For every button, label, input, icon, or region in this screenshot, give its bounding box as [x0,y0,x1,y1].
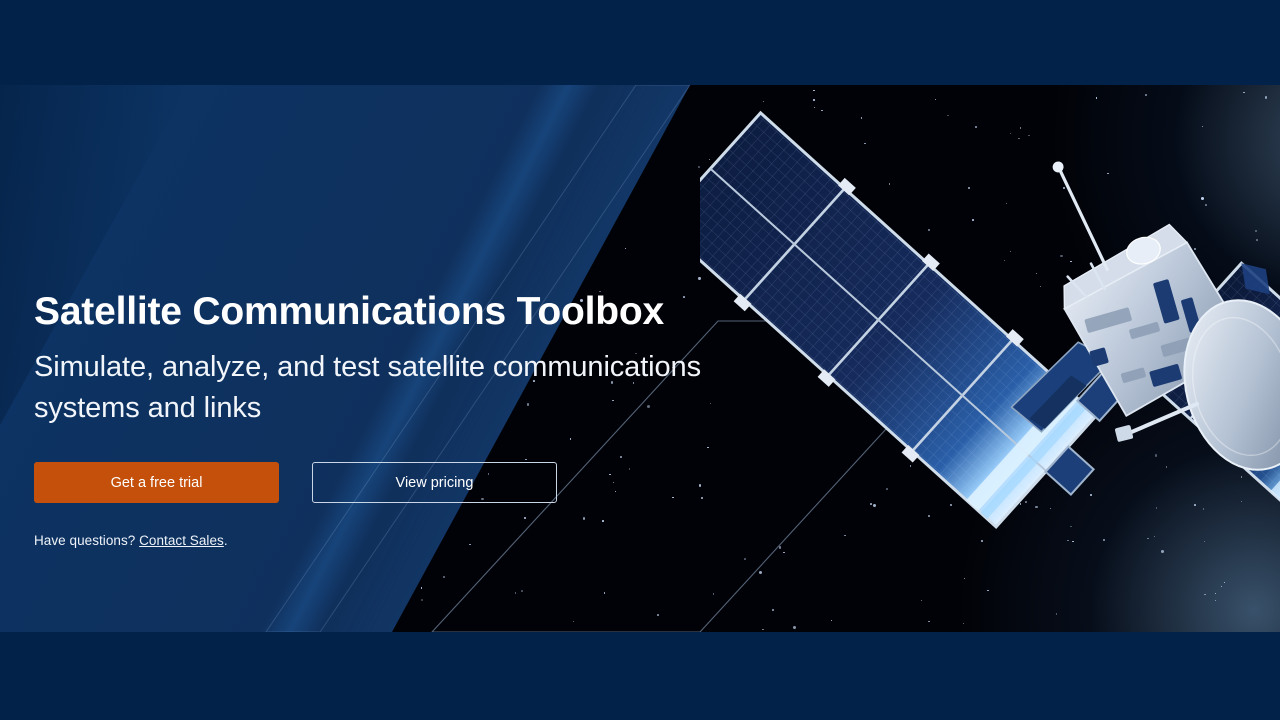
hero-banner: Satellite Communications Toolbox Simulat… [0,85,1280,632]
hero-content: Satellite Communications Toolbox Simulat… [34,290,794,548]
hero-subheadline: Simulate, analyze, and test satellite co… [34,347,794,429]
bottom-navy-strip [0,632,1280,720]
contact-sales-line: Have questions? Contact Sales. [34,533,794,548]
view-pricing-button[interactable]: View pricing [312,462,557,503]
have-questions-label: Have questions? [34,533,139,548]
contact-sales-link[interactable]: Contact Sales [139,533,224,548]
contact-sales-period: . [224,533,228,548]
page-title: Satellite Communications Toolbox [34,290,794,334]
top-navy-strip [0,0,1280,85]
get-free-trial-button[interactable]: Get a free trial [34,462,279,503]
page-root: Satellite Communications Toolbox Simulat… [0,0,1280,720]
hero-button-row: Get a free trial View pricing [34,462,794,503]
